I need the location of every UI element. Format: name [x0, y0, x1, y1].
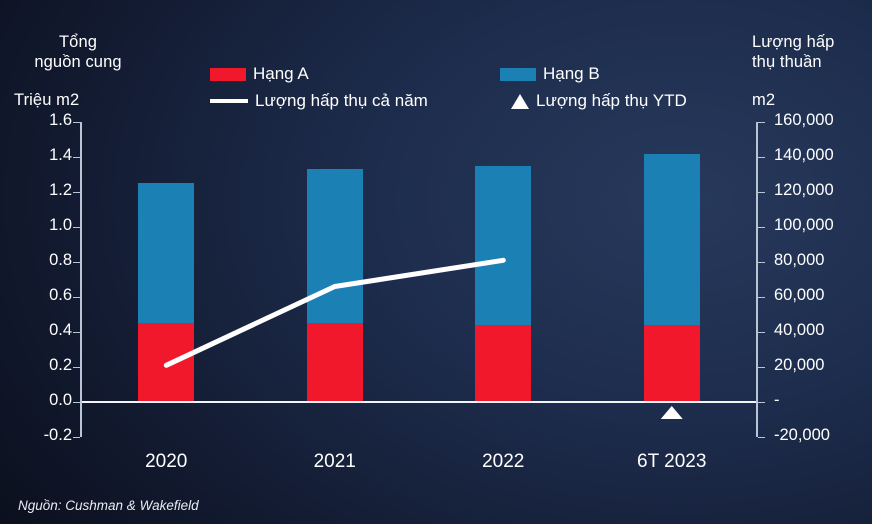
category-label: 2022	[482, 451, 524, 473]
triangle-up-icon	[661, 406, 683, 419]
right-axis-tick	[758, 262, 765, 263]
right-axis-unit-label: m2	[752, 90, 775, 110]
legend-label-hang-b: Hạng B	[543, 64, 600, 84]
left-axis-tick-label: -0.2	[44, 426, 72, 445]
left-axis-tick	[73, 227, 80, 228]
left-axis-tick-label: 1.0	[49, 216, 72, 235]
right-axis-tick	[758, 332, 765, 333]
left-axis-tick-label: 1.4	[49, 146, 72, 165]
left-axis-tick	[73, 192, 80, 193]
left-axis-tick-label: 0.8	[49, 251, 72, 270]
legend-swatch-red-icon	[210, 68, 246, 81]
right-axis-tick	[758, 402, 765, 403]
right-axis-tick	[758, 297, 765, 298]
plot-area: 1.61.41.21.00.80.60.40.20.0-0.2 160,0001…	[82, 122, 756, 437]
legend-label-absorption-ytd: Lượng hấp thụ YTD	[536, 91, 687, 111]
right-axis-tick	[758, 367, 765, 368]
right-axis-tick	[758, 227, 765, 228]
category-label: 2020	[145, 451, 187, 473]
legend-swatch-blue-icon	[500, 68, 536, 81]
right-axis-tick-label: 120,000	[774, 181, 834, 200]
left-axis-tick	[73, 402, 80, 403]
right-axis-tick-label: 80,000	[774, 251, 824, 270]
legend-item-absorption-ytd[interactable]: Lượng hấp thụ YTD	[500, 91, 687, 111]
right-axis-tick	[758, 192, 765, 193]
source-note: Nguồn: Cushman & Wakefield	[18, 498, 199, 513]
right-axis-tick-label: -20,000	[774, 426, 830, 445]
right-axis-tick-label: 160,000	[774, 111, 834, 130]
right-axis-tick-label: 100,000	[774, 216, 834, 235]
absorption-ytd-marker	[82, 122, 756, 437]
left-axis-tick	[73, 332, 80, 333]
left-axis-tick-label: 0.2	[49, 356, 72, 375]
left-axis-tick-label: 0.0	[49, 391, 72, 410]
legend-item-hang-b[interactable]: Hạng B	[500, 64, 600, 84]
right-axis-tick-label: 140,000	[774, 146, 834, 165]
left-axis-tick	[73, 122, 80, 123]
left-axis-tick	[73, 157, 80, 158]
category-label: 2021	[314, 451, 356, 473]
left-axis-tick-label: 1.2	[49, 181, 72, 200]
left-axis-tick-label: 0.6	[49, 286, 72, 305]
left-axis-tick	[73, 262, 80, 263]
right-axis-tick-label: 20,000	[774, 356, 824, 375]
left-axis-tick-label: 0.4	[49, 321, 72, 340]
left-axis-tick-label: 1.6	[49, 111, 72, 130]
right-axis-tick-label: -	[774, 391, 780, 410]
right-axis-tick-label: 60,000	[774, 286, 824, 305]
right-axis-title: Lượng hấp thụ thuần	[752, 32, 872, 72]
left-axis-title: Tổng nguồn cung	[18, 32, 138, 72]
chart-figure: Tổng nguồn cung Triệu m2 Lượng hấp thụ t…	[0, 0, 872, 524]
legend-item-absorption-year[interactable]: Lượng hấp thụ cả năm	[210, 91, 428, 111]
right-axis-tick	[758, 437, 765, 438]
legend-swatch-triangle-up-icon	[511, 94, 529, 109]
right-axis-tick	[758, 122, 765, 123]
legend-label-absorption-year: Lượng hấp thụ cả năm	[255, 91, 428, 111]
legend-label-hang-a: Hạng A	[253, 64, 309, 84]
left-axis-tick	[73, 297, 80, 298]
category-label: 6T 2023	[637, 451, 706, 473]
legend-item-hang-a[interactable]: Hạng A	[210, 64, 309, 84]
legend-swatch-line-icon	[210, 99, 248, 103]
right-axis-tick	[758, 157, 765, 158]
left-axis-tick	[73, 367, 80, 368]
left-axis-tick	[73, 437, 80, 438]
right-axis-spine	[756, 122, 758, 437]
left-axis-unit-label: Triệu m2	[14, 90, 79, 110]
chart-legend: Hạng A Hạng B Lượng hấp thụ cả năm Lượng…	[210, 64, 730, 116]
right-axis-tick-label: 40,000	[774, 321, 824, 340]
